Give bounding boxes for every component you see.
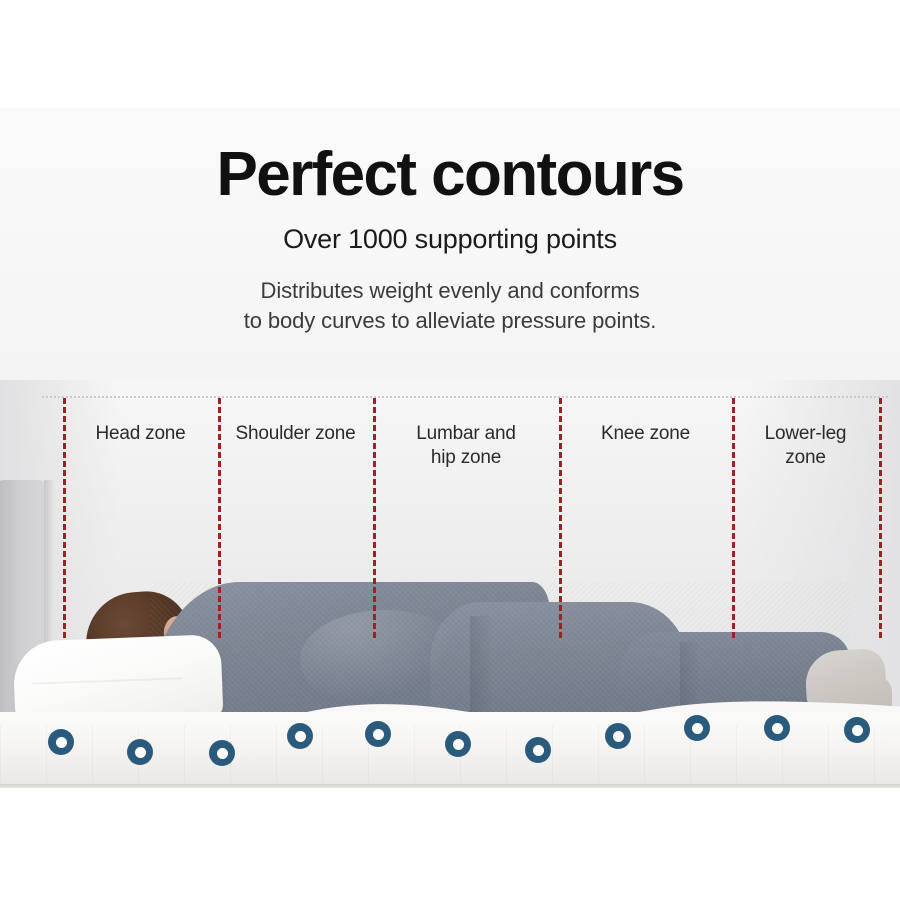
description-line-1: Distributes weight evenly and conforms [0,276,900,306]
subtitle: Over 1000 supporting points [0,226,900,253]
support-point-icon [445,731,471,757]
support-point-icon [525,737,551,763]
description-line-2: to body curves to alleviate pressure poi… [0,306,900,336]
support-point-icon [287,723,313,749]
description-block: Distributes weight evenly and conforms t… [0,276,900,337]
support-point-icon [684,715,710,741]
support-point-icon [365,721,391,747]
bed-base [0,788,900,800]
support-point-icon [844,717,870,743]
page-title: Perfect contours [0,144,900,206]
support-point-icon [209,740,235,766]
support-point-icon [127,739,153,765]
support-point-icon [764,715,790,741]
pajama-shoulder-highlight [300,610,470,710]
bottom-white-band [0,800,900,900]
support-point-icon [48,729,74,755]
hero-text-section: Perfect contours Over 1000 supporting po… [0,108,900,380]
top-white-band [0,0,900,108]
support-point-icon [605,723,631,749]
product-feature-card: Perfect contours Over 1000 supporting po… [0,0,900,900]
